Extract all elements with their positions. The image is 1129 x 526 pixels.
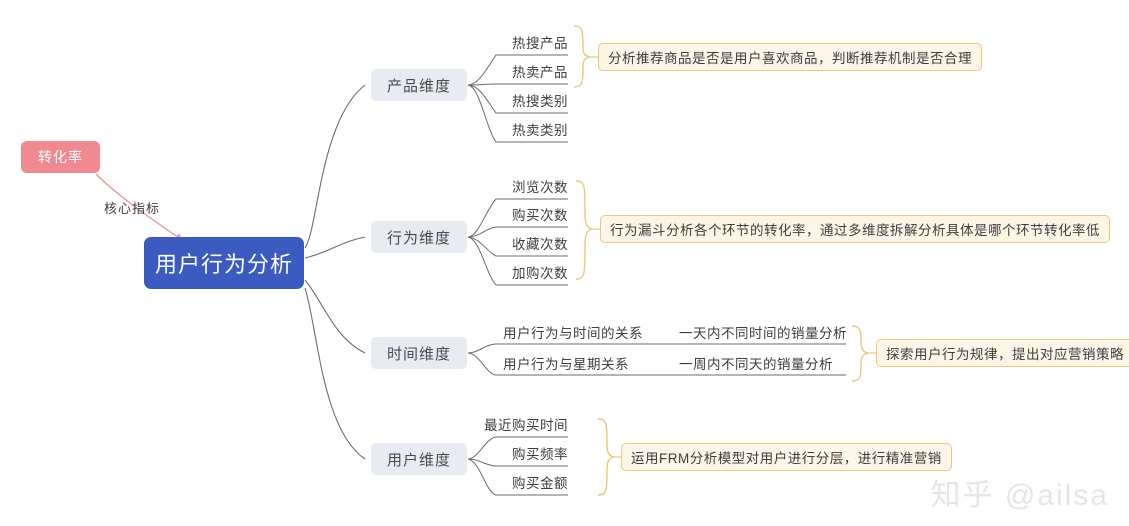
leaf-time-2[interactable]: 用户行为与星期关系 — [503, 356, 629, 373]
subleaf-time-2[interactable]: 一周内不同天的销量分析 — [679, 356, 833, 373]
node-root-label: 用户行为分析 — [155, 247, 293, 279]
node-branch-time-label: 时间维度 — [387, 343, 451, 364]
node-branch-product[interactable]: 产品维度 — [371, 69, 467, 101]
annotation-user: 运用FRM分析模型对用户进行分层，进行精准营销 — [621, 443, 952, 471]
brace-time — [852, 326, 868, 381]
edge-root-time — [305, 280, 365, 353]
leaf-time-1[interactable]: 用户行为与时间的关系 — [503, 325, 643, 342]
node-root[interactable]: 用户行为分析 — [144, 237, 304, 289]
node-branch-product-label: 产品维度 — [387, 75, 451, 96]
brace-product — [574, 26, 590, 87]
annotation-product: 分析推荐商品是否是用户喜欢商品，判断推荐机制是否合理 — [598, 43, 982, 71]
leaf-behavior-4[interactable]: 加购次数 — [468, 265, 568, 282]
leaf-behavior-3[interactable]: 收藏次数 — [468, 236, 568, 253]
edge-root-user — [305, 288, 365, 459]
leaf-behavior-1[interactable]: 浏览次数 — [468, 179, 568, 196]
mindmap-canvas: 转化率 核心指标 用户行为分析 产品维度 热搜产品 热卖产品 热搜类别 热卖类别… — [0, 0, 1129, 526]
brace-behavior — [576, 181, 592, 279]
edge-root-behavior — [305, 237, 365, 258]
leaf-behavior-2[interactable]: 购买次数 — [468, 207, 568, 224]
node-branch-time[interactable]: 时间维度 — [371, 337, 467, 369]
edge-product-leaf-2 — [468, 84, 568, 85]
leaf-user-1[interactable]: 最近购买时间 — [468, 417, 568, 434]
relation-label: 核心指标 — [104, 198, 160, 217]
leaf-product-2[interactable]: 热卖产品 — [468, 64, 568, 81]
leaf-user-2[interactable]: 购买频率 — [468, 446, 568, 463]
edge-root-product — [305, 85, 365, 248]
edge-time-leaf-1 — [468, 344, 846, 353]
node-conversion-rate-label: 转化率 — [38, 147, 83, 167]
node-branch-user-label: 用户维度 — [387, 449, 451, 470]
leaf-product-4[interactable]: 热卖类别 — [468, 122, 568, 139]
leaf-product-1[interactable]: 热搜产品 — [468, 35, 568, 52]
node-branch-behavior-label: 行为维度 — [387, 227, 451, 248]
node-branch-user[interactable]: 用户维度 — [371, 443, 467, 475]
leaf-user-3[interactable]: 购买金额 — [468, 475, 568, 492]
subleaf-time-1[interactable]: 一天内不同时间的销量分析 — [679, 325, 847, 342]
leaf-product-3[interactable]: 热搜类别 — [468, 93, 568, 110]
annotation-behavior: 行为漏斗分析各个环节的转化率，通过多维度拆解分析具体是哪个环节转化率低 — [600, 215, 1110, 243]
brace-user — [598, 419, 614, 495]
node-conversion-rate[interactable]: 转化率 — [21, 141, 100, 173]
node-branch-behavior[interactable]: 行为维度 — [371, 221, 467, 253]
watermark: 知乎 @ailsa — [931, 470, 1110, 514]
annotation-time: 探索用户行为规律，提出对应营销策略 — [876, 339, 1129, 367]
